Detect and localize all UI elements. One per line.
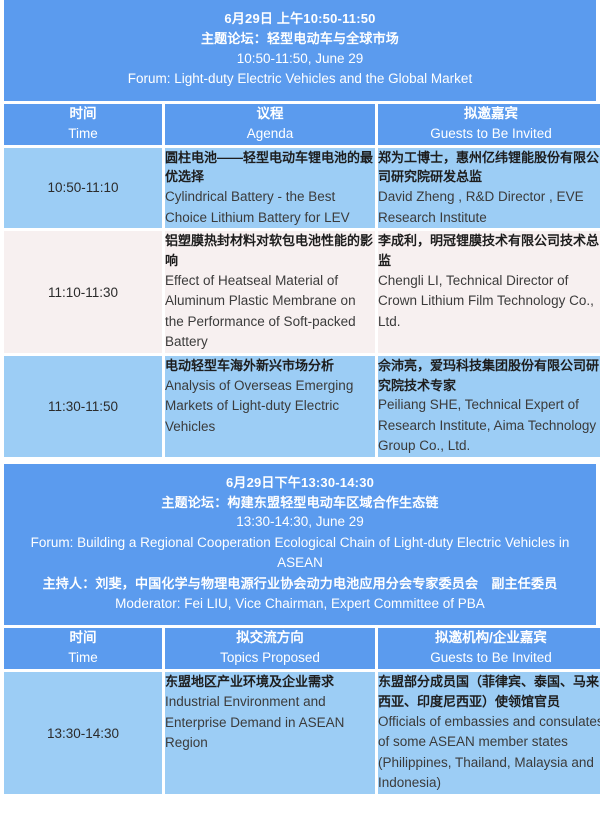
column-header-time-cn: 时间 bbox=[4, 104, 162, 124]
cell-agenda-en: Analysis of Overseas Emerging Markets of… bbox=[165, 376, 375, 438]
agenda-page: 6月29日 上午10:50-11:50 主题论坛：轻型电动车与全球市场 10:5… bbox=[0, 0, 600, 817]
table-row: 10:50-11:10 圆柱电池——轻型电动车锂电池的最优选择 Cylindri… bbox=[4, 148, 600, 229]
cell-guest-cn: 李成利，明冠锂膜技术有限公司技术总监 bbox=[378, 231, 600, 271]
forum-banner-afternoon: 6月29日下午13:30-14:30 主题论坛：构建东盟轻型电动车区域合作生态链… bbox=[4, 464, 596, 625]
column-header-agenda-en: Agenda bbox=[165, 124, 375, 145]
cell-agenda-cn: 圆柱电池——轻型电动车锂电池的最优选择 bbox=[165, 148, 375, 188]
cell-time: 11:10-11:30 bbox=[4, 231, 162, 353]
cell-time: 13:30-14:30 bbox=[4, 672, 162, 794]
cell-agenda: 铝塑膜热封材料对软包电池性能的影响 Effect of Heatseal Mat… bbox=[165, 231, 375, 353]
column-header-guests: 拟邀嘉宾 Guests to Be Invited bbox=[378, 104, 600, 145]
column-header-guests-cn: 拟邀嘉宾 bbox=[378, 104, 600, 124]
banner-date-time-en: 10:50-11:50, June 29 bbox=[14, 49, 586, 70]
cell-guest-en: Officials of embassies and consulates of… bbox=[378, 712, 600, 794]
cell-guest: 佘沛亮，爱玛科技集团股份有限公司研究院技术专家 Peiliang SHE, Te… bbox=[378, 356, 600, 457]
column-header-time: 时间 Time bbox=[4, 104, 162, 145]
column-header-topics-cn: 拟交流方向 bbox=[165, 628, 375, 648]
cell-agenda: 电动轻型车海外新兴市场分析 Analysis of Overseas Emerg… bbox=[165, 356, 375, 457]
table-row: 13:30-14:30 东盟地区产业环境及企业需求 Industrial Env… bbox=[4, 672, 600, 794]
column-header-topics-en: Topics Proposed bbox=[165, 648, 375, 669]
column-header-guests-cn: 拟邀机构/企业嘉宾 bbox=[378, 628, 600, 648]
cell-time: 11:30-11:50 bbox=[4, 356, 162, 457]
table-row: 11:10-11:30 铝塑膜热封材料对软包电池性能的影响 Effect of … bbox=[4, 231, 600, 353]
agenda-table-morning: 时间 Time 议程 Agenda 拟邀嘉宾 Guests to Be Invi… bbox=[0, 101, 600, 460]
cell-guest: 郑为工博士，惠州亿纬锂能股份有限公司研究院研发总监 David Zheng , … bbox=[378, 148, 600, 229]
cell-topics: 东盟地区产业环境及企业需求 Industrial Environment and… bbox=[165, 672, 375, 794]
banner-forum-title-cn: 主题论坛：轻型电动车与全球市场 bbox=[14, 29, 586, 49]
cell-agenda-cn: 电动轻型车海外新兴市场分析 bbox=[165, 356, 375, 376]
banner-moderator-cn: 主持人：刘斐，中国化学与物理电源行业协会动力电池应用分会专家委员会 副主任委员 bbox=[14, 574, 586, 594]
column-header-time-en: Time bbox=[4, 124, 162, 145]
cell-agenda-cn: 铝塑膜热封材料对软包电池性能的影响 bbox=[165, 231, 375, 271]
banner-date-time-cn: 6月29日下午13:30-14:30 bbox=[14, 473, 586, 493]
table-header-row: 时间 Time 拟交流方向 Topics Proposed 拟邀机构/企业嘉宾 … bbox=[4, 628, 600, 669]
banner-forum-title-en: Forum: Light-duty Electric Vehicles and … bbox=[14, 69, 586, 90]
cell-guest-en: David Zheng , R&D Director , EVE Researc… bbox=[378, 187, 600, 228]
banner-date-time-en: 13:30-14:30, June 29 bbox=[14, 512, 586, 533]
column-header-time-en: Time bbox=[4, 648, 162, 669]
cell-topics-cn: 东盟地区产业环境及企业需求 bbox=[165, 672, 375, 692]
cell-guest-cn: 郑为工博士，惠州亿纬锂能股份有限公司研究院研发总监 bbox=[378, 148, 600, 188]
column-header-time: 时间 Time bbox=[4, 628, 162, 669]
cell-guest: 李成利，明冠锂膜技术有限公司技术总监 Chengli LI, Technical… bbox=[378, 231, 600, 353]
column-header-topics: 拟交流方向 Topics Proposed bbox=[165, 628, 375, 669]
column-header-time-cn: 时间 bbox=[4, 628, 162, 648]
cell-guest-cn: 东盟部分成员国（菲律宾、泰国、马来西亚、印度尼西亚）使领馆官员 bbox=[378, 672, 600, 712]
cell-agenda-en: Cylindrical Battery - the Best Choice Li… bbox=[165, 187, 375, 228]
column-header-guests-en: Guests to Be Invited bbox=[378, 648, 600, 669]
column-header-agenda-cn: 议程 bbox=[165, 104, 375, 124]
banner-forum-title-en: Forum: Building a Regional Cooperation E… bbox=[14, 533, 586, 574]
cell-agenda: 圆柱电池——轻型电动车锂电池的最优选择 Cylindrical Battery … bbox=[165, 148, 375, 229]
cell-guest-en: Chengli LI, Technical Director of Crown … bbox=[378, 271, 600, 333]
forum-banner-morning: 6月29日 上午10:50-11:50 主题论坛：轻型电动车与全球市场 10:5… bbox=[4, 0, 596, 101]
cell-topics-en: Industrial Environment and Enterprise De… bbox=[165, 692, 375, 754]
cell-agenda-en: Effect of Heatseal Material of Aluminum … bbox=[165, 271, 375, 353]
column-header-guests: 拟邀机构/企业嘉宾 Guests to Be Invited bbox=[378, 628, 600, 669]
cell-guest-en: Peiliang SHE, Technical Expert of Resear… bbox=[378, 395, 600, 457]
column-header-guests-en: Guests to Be Invited bbox=[378, 124, 600, 145]
table-row: 11:30-11:50 电动轻型车海外新兴市场分析 Analysis of Ov… bbox=[4, 356, 600, 457]
column-header-agenda: 议程 Agenda bbox=[165, 104, 375, 145]
cell-guest: 东盟部分成员国（菲律宾、泰国、马来西亚、印度尼西亚）使领馆官员 Official… bbox=[378, 672, 600, 794]
banner-date-time-cn: 6月29日 上午10:50-11:50 bbox=[14, 9, 586, 29]
banner-forum-title-cn: 主题论坛：构建东盟轻型电动车区域合作生态链 bbox=[14, 493, 586, 513]
banner-moderator-en: Moderator: Fei LIU, Vice Chairman, Exper… bbox=[14, 594, 586, 615]
cell-guest-cn: 佘沛亮，爱玛科技集团股份有限公司研究院技术专家 bbox=[378, 356, 600, 396]
table-header-row: 时间 Time 议程 Agenda 拟邀嘉宾 Guests to Be Invi… bbox=[4, 104, 600, 145]
cell-time: 10:50-11:10 bbox=[4, 148, 162, 229]
agenda-table-afternoon: 时间 Time 拟交流方向 Topics Proposed 拟邀机构/企业嘉宾 … bbox=[0, 625, 600, 797]
